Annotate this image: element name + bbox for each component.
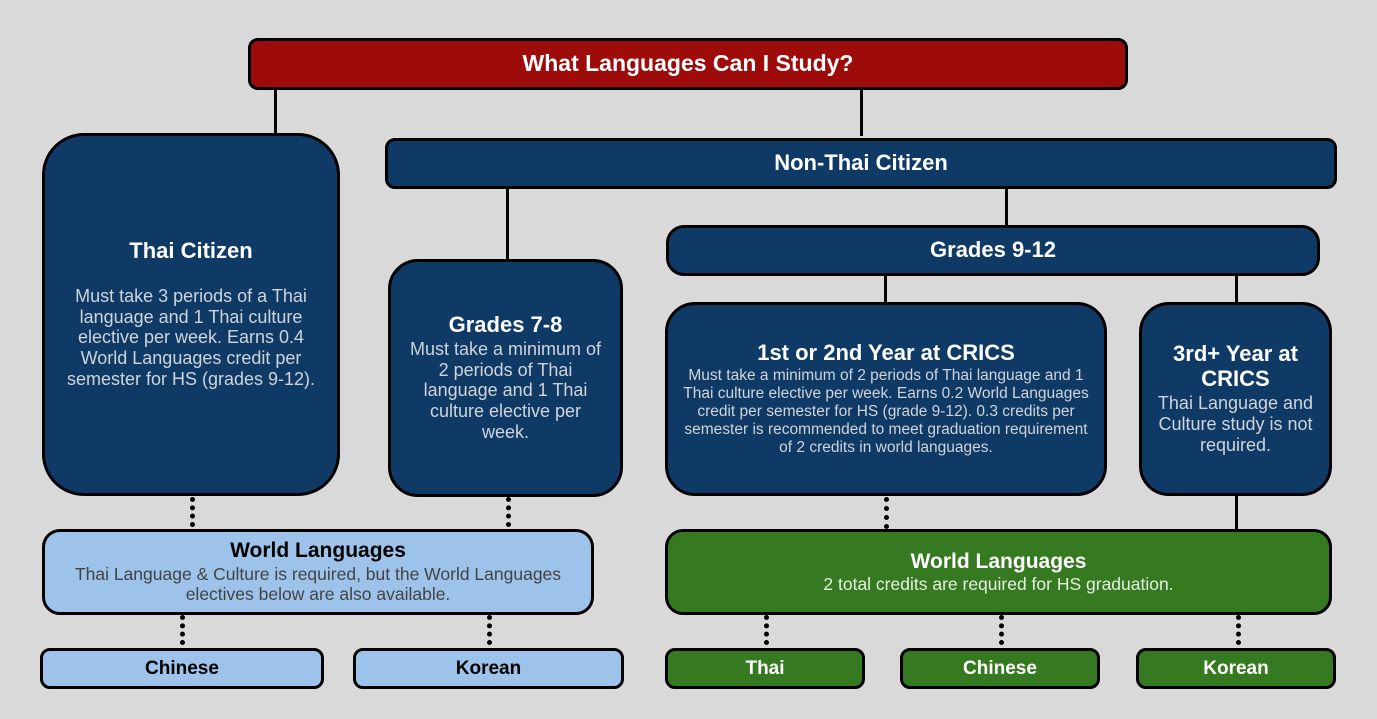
node-language-green-korean[interactable]: Korean <box>1136 648 1336 689</box>
node-non-thai-citizen-title: Non-Thai Citizen <box>774 151 948 176</box>
connector-world-languages-green-to-korean <box>1236 615 1241 645</box>
node-crics-year-1-2[interactable]: 1st or 2nd Year at CRICS Must take a min… <box>665 302 1107 496</box>
node-world-languages-blue-title: World Languages <box>230 539 406 563</box>
node-grades-7-8-title: Grades 7-8 <box>449 313 563 338</box>
connector-grades-7-8-to-world-languages-blue <box>506 497 511 527</box>
node-root-question-title: What Languages Can I Study? <box>523 51 854 77</box>
node-grades-7-8[interactable]: Grades 7-8 Must take a minimum of 2 peri… <box>388 259 623 497</box>
connector-grades-9-12-to-crics-1-2 <box>884 276 887 302</box>
connector-thai-citizen-to-world-languages-blue <box>190 497 195 527</box>
connector-world-languages-green-to-thai <box>764 615 769 645</box>
node-thai-citizen[interactable]: Thai Citizen Must take 3 periods of a Th… <box>42 133 340 496</box>
node-root-question[interactable]: What Languages Can I Study? <box>248 38 1128 90</box>
node-language-green-chinese[interactable]: Chinese <box>900 648 1100 689</box>
node-language-blue-chinese-title: Chinese <box>145 658 219 679</box>
connector-crics-1-2-to-world-languages-green <box>884 497 889 529</box>
connector-crics-3plus-to-world-languages-green <box>1235 492 1238 529</box>
connector-grades-9-12-to-crics-3plus <box>1235 276 1238 302</box>
connector-world-languages-green-to-chinese <box>999 615 1004 645</box>
flowchart-canvas: What Languages Can I Study? Thai Citizen… <box>0 0 1377 719</box>
connector-world-languages-blue-to-chinese <box>180 615 185 645</box>
node-language-blue-korean-title: Korean <box>456 658 521 679</box>
connector-root-to-thai-citizen <box>274 88 277 136</box>
node-thai-citizen-title: Thai Citizen <box>129 239 252 264</box>
node-world-languages-green[interactable]: World Languages 2 total credits are requ… <box>665 529 1332 615</box>
node-thai-citizen-body: Must take 3 periods of a Thai language a… <box>63 286 319 390</box>
node-crics-year-1-2-body: Must take a minimum of 2 periods of Thai… <box>682 367 1090 457</box>
node-grades-9-12[interactable]: Grades 9-12 <box>666 225 1320 276</box>
node-language-green-thai-title: Thai <box>745 658 784 679</box>
node-grades-9-12-title: Grades 9-12 <box>930 238 1056 263</box>
node-world-languages-blue[interactable]: World Languages Thai Language & Culture … <box>42 529 594 615</box>
node-language-green-korean-title: Korean <box>1203 658 1268 679</box>
node-crics-year-3-plus-body: Thai Language and Culture study is not r… <box>1154 393 1317 456</box>
node-world-languages-blue-body: Thai Language & Culture is required, but… <box>59 564 577 605</box>
node-crics-year-3-plus-title: 3rd+ Year at CRICS <box>1154 342 1317 391</box>
node-crics-year-3-plus[interactable]: 3rd+ Year at CRICS Thai Language and Cul… <box>1139 302 1332 496</box>
node-language-green-chinese-title: Chinese <box>963 658 1037 679</box>
connector-non-thai-to-grades-7-8 <box>506 188 509 260</box>
node-grades-7-8-body: Must take a minimum of 2 periods of Thai… <box>405 339 606 443</box>
node-language-blue-korean[interactable]: Korean <box>353 648 624 689</box>
node-crics-year-1-2-title: 1st or 2nd Year at CRICS <box>757 341 1015 366</box>
connector-world-languages-blue-to-korean <box>487 615 492 645</box>
node-language-blue-chinese[interactable]: Chinese <box>40 648 324 689</box>
node-world-languages-green-body: 2 total credits are required for HS grad… <box>823 574 1173 594</box>
node-non-thai-citizen[interactable]: Non-Thai Citizen <box>385 138 1337 189</box>
node-language-green-thai[interactable]: Thai <box>665 648 865 689</box>
connector-non-thai-to-grades-9-12 <box>1005 188 1008 225</box>
node-world-languages-green-title: World Languages <box>911 550 1087 574</box>
connector-root-to-non-thai <box>860 88 863 136</box>
